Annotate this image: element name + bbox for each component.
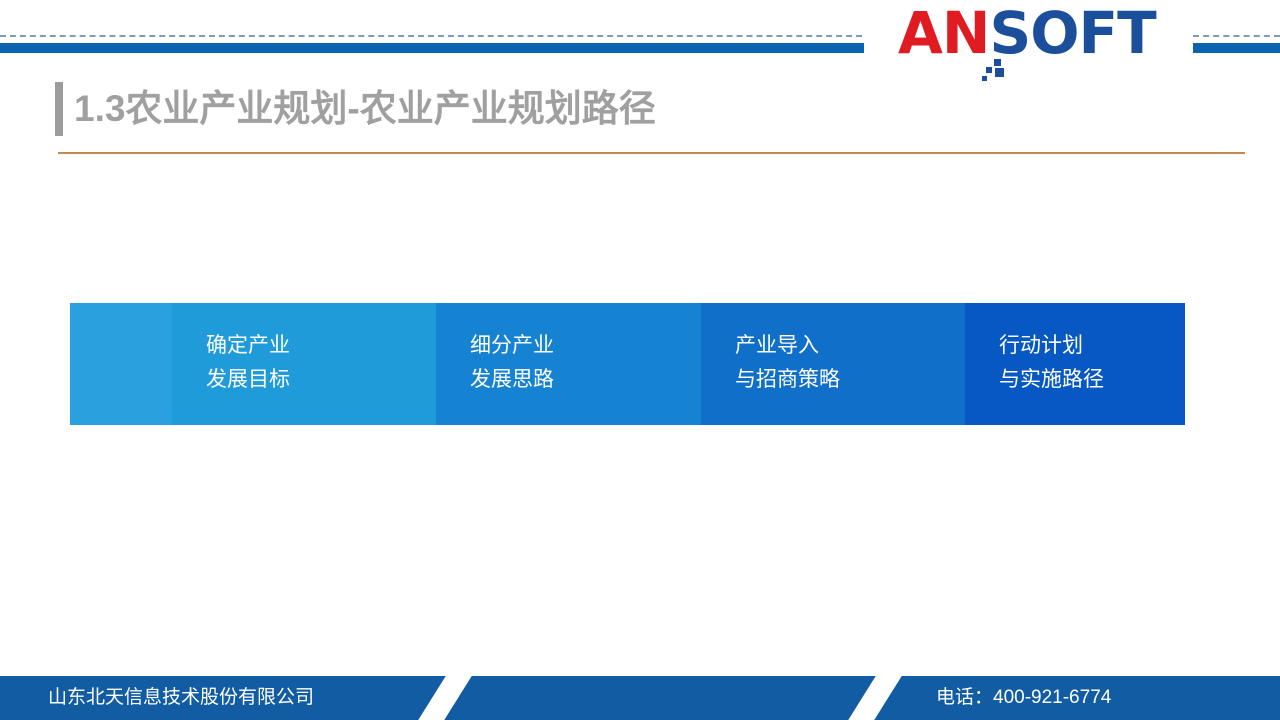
process-segment-3: 产业导入与招商策略: [701, 303, 965, 425]
process-segment-1: 确定产业发展目标: [172, 303, 436, 425]
ansoft-logo: AN SOFT: [898, 2, 1208, 64]
logo-text-soft: SOFT: [989, 0, 1155, 67]
process-segment-label-line1: 细分产业: [470, 329, 554, 363]
process-segment-label-line1: 行动计划: [999, 329, 1104, 363]
process-segment-label-line1: 产业导入: [735, 329, 840, 363]
footer-company-name: 山东北天信息技术股份有限公司: [48, 676, 314, 720]
process-segment-label-line2: 与招商策略: [735, 363, 840, 397]
process-segment-label-line2: 发展思路: [470, 363, 554, 397]
process-segment-4: 行动计划与实施路径: [965, 303, 1185, 425]
process-segment-label-line2: 与实施路径: [999, 363, 1104, 397]
logo-text-an: AN: [898, 0, 989, 67]
footer-slash-decoration-left: [410, 676, 481, 720]
process-segment-label: 行动计划与实施路径: [999, 329, 1104, 397]
process-segment-label: 确定产业发展目标: [206, 329, 290, 397]
process-segment-label: 产业导入与招商策略: [735, 329, 840, 397]
process-segment-label-line2: 发展目标: [206, 363, 290, 397]
title-divider-rule: [58, 152, 1245, 154]
process-segment-spacer: [70, 303, 172, 425]
process-segment-label-line1: 确定产业: [206, 329, 290, 363]
footer-bar: 山东北天信息技术股份有限公司 电话：400-921-6774: [0, 676, 1280, 720]
header-dashed-line-left: [0, 35, 862, 37]
process-band: 确定产业发展目标细分产业发展思路产业导入与招商策略行动计划与实施路径: [70, 303, 1185, 425]
header-blue-bar-left: [0, 43, 864, 53]
footer-phone: 电话：400-921-6774: [936, 676, 1111, 720]
process-segment-label: 细分产业发展思路: [470, 329, 554, 397]
title-accent-bar: [55, 82, 63, 136]
page-title: 1.3农业产业规划-农业产业规划路径: [74, 80, 1074, 138]
process-segment-2: 细分产业发展思路: [436, 303, 701, 425]
footer-slash-decoration-right: [840, 676, 911, 720]
